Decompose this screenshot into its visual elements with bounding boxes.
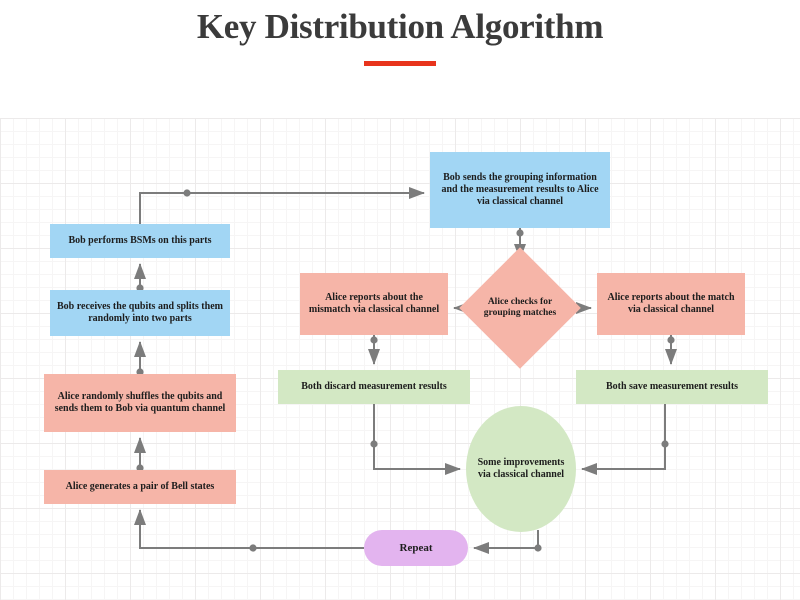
- node-bob-receives[interactable]: Bob receives the qubits and splits them …: [50, 290, 230, 336]
- node-alice-match[interactable]: Alice reports about the match via classi…: [597, 273, 745, 335]
- node-alice-checks[interactable]: Alice checks for grouping matches: [477, 265, 563, 351]
- node-some-improvements[interactable]: Some improvements via classical channel: [466, 406, 576, 532]
- node-repeat[interactable]: Repeat: [364, 530, 468, 566]
- node-bob-sends[interactable]: Bob sends the grouping information and t…: [430, 152, 610, 228]
- node-alice-generates[interactable]: Alice generates a pair of Bell states: [44, 470, 236, 504]
- node-alice-checks-label: Alice checks for grouping matches: [477, 297, 563, 319]
- node-both-discard-label: Both discard measurement results: [301, 381, 446, 393]
- node-some-improvements-label: Some improvements via classical channel: [472, 457, 570, 481]
- node-bob-bsm-label: Bob performs BSMs on this parts: [68, 235, 211, 247]
- grid-background: [0, 118, 800, 600]
- node-both-save-label: Both save measurement results: [606, 381, 738, 393]
- page-title-text: Key Distribution Algorithm: [0, 8, 800, 47]
- node-alice-mismatch-label: Alice reports about the mismatch via cla…: [306, 292, 442, 316]
- page-title: Key Distribution Algorithm: [0, 8, 800, 66]
- node-bob-receives-label: Bob receives the qubits and splits them …: [56, 301, 224, 325]
- diagram-canvas: Key Distribution Algorithm: [0, 0, 800, 600]
- node-bob-bsm[interactable]: Bob performs BSMs on this parts: [50, 224, 230, 258]
- node-bob-sends-label: Bob sends the grouping information and t…: [436, 172, 604, 207]
- node-alice-match-label: Alice reports about the match via classi…: [603, 292, 739, 316]
- node-alice-generates-label: Alice generates a pair of Bell states: [66, 481, 215, 493]
- node-both-discard[interactable]: Both discard measurement results: [278, 370, 470, 404]
- title-accent-rule: [364, 61, 436, 66]
- node-alice-shuffles-label: Alice randomly shuffles the qubits and s…: [50, 391, 230, 415]
- node-alice-shuffles[interactable]: Alice randomly shuffles the qubits and s…: [44, 374, 236, 432]
- node-alice-mismatch[interactable]: Alice reports about the mismatch via cla…: [300, 273, 448, 335]
- node-repeat-label: Repeat: [400, 542, 433, 555]
- node-both-save[interactable]: Both save measurement results: [576, 370, 768, 404]
